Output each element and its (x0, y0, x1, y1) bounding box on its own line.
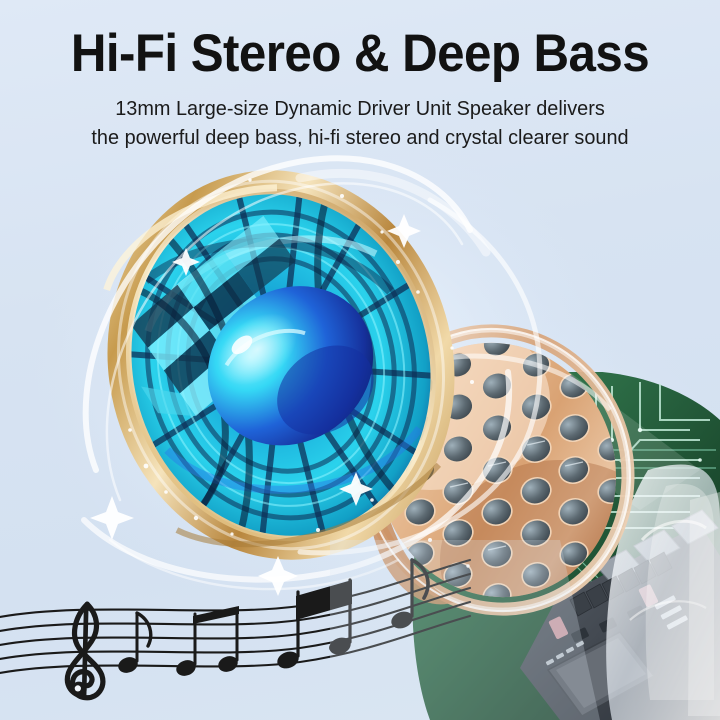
subtitle: 13mm Large-size Dynamic Driver Unit Spea… (11, 82, 709, 152)
beamed-eighth-pair-icon (174, 606, 240, 678)
page-title: Hi-Fi Stereo & Deep Bass (25, 0, 695, 82)
subtitle-line-1: 13mm Large-size Dynamic Driver Unit Spea… (11, 95, 709, 124)
marketing-banner: Hi-Fi Stereo & Deep Bass 13mm Large-size… (0, 0, 720, 720)
headline-block: Hi-Fi Stereo & Deep Bass 13mm Large-size… (0, 0, 720, 153)
subtitle-line-2: the powerful deep bass, hi-fi stereo and… (11, 124, 709, 153)
